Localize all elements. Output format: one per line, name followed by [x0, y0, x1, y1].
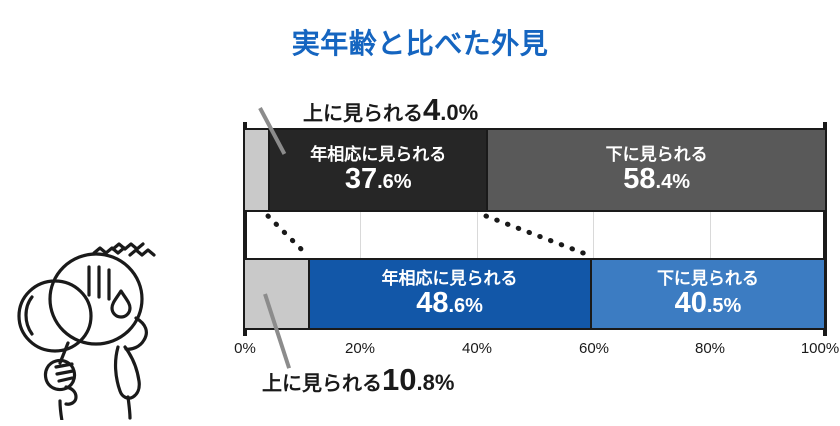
- bar-segment-value-0-1: 37.6%: [345, 164, 412, 194]
- bar-segment-value-1-1: 48.6%: [416, 288, 483, 318]
- bar-segment-0-2[interactable]: 下に見られる 58.4%: [486, 130, 825, 210]
- worried-person-with-hand-mirror-illustration: [10, 215, 175, 420]
- callout-bottom-value-int: 10: [382, 362, 416, 397]
- bar-segment-label-1-1: 年相応に見られる: [382, 270, 518, 288]
- value-int-1-1: 48: [416, 287, 448, 319]
- bar-row-benpigimi[interactable]: 年相応に見られる 48.6% 下に見られる 40.5%: [243, 258, 827, 330]
- bar-row-kaiben[interactable]: 年相応に見られる 37.6% 下に見られる 58.4%: [243, 128, 827, 212]
- value-int-0-2: 58: [623, 163, 655, 195]
- value-dec-0-2: .4%: [656, 171, 690, 193]
- plot-area: 年相応に見られる 37.6% 下に見られる 58.4% 年相応に見られる 48.…: [243, 128, 827, 330]
- x-tick-100: 100%: [801, 340, 839, 357]
- x-axis-tick-labels: 0% 20% 40% 60% 80% 100%: [0, 340, 840, 362]
- bar-segment-1-0[interactable]: [245, 260, 308, 328]
- value-dec-1-1: .6%: [448, 295, 482, 317]
- bar-segment-0-0[interactable]: [245, 130, 268, 210]
- callout-top-value-int: 4: [423, 92, 440, 127]
- bar-segment-label-0-2: 下に見られる: [606, 146, 708, 164]
- value-dec-1-2: .5%: [707, 295, 741, 317]
- callout-top: 上に見られる4.0%: [303, 92, 478, 128]
- x-tick-0: 0%: [234, 340, 256, 357]
- callout-bottom-text: 上に見られる: [262, 373, 382, 395]
- x-tick-80: 80%: [695, 340, 725, 357]
- bar-segment-label-1-2: 下に見られる: [657, 270, 759, 288]
- value-int-1-2: 40: [675, 287, 707, 319]
- x-tick-60: 60%: [579, 340, 609, 357]
- bar-segment-1-2[interactable]: 下に見られる 40.5%: [590, 260, 825, 328]
- bar-segment-1-1[interactable]: 年相応に見られる 48.6%: [308, 260, 590, 328]
- bar-segment-value-1-2: 40.5%: [675, 288, 742, 318]
- callout-top-value-dec: .0%: [440, 100, 478, 125]
- callout-top-text: 上に見られる: [303, 103, 423, 125]
- bar-segment-label-0-1: 年相応に見られる: [310, 146, 446, 164]
- value-int-0-1: 37: [345, 163, 377, 195]
- page-title: 実年齢と比べた外見: [0, 22, 840, 62]
- callout-bottom-value-dec: .8%: [416, 370, 454, 395]
- x-tick-20: 20%: [345, 340, 375, 357]
- bar-segment-value-0-2: 58.4%: [623, 164, 690, 194]
- value-dec-0-1: .6%: [377, 171, 411, 193]
- x-tick-40: 40%: [462, 340, 492, 357]
- bar-segment-0-1[interactable]: 年相応に見られる 37.6%: [268, 130, 486, 210]
- callout-bottom: 上に見られる10.8%: [262, 362, 454, 398]
